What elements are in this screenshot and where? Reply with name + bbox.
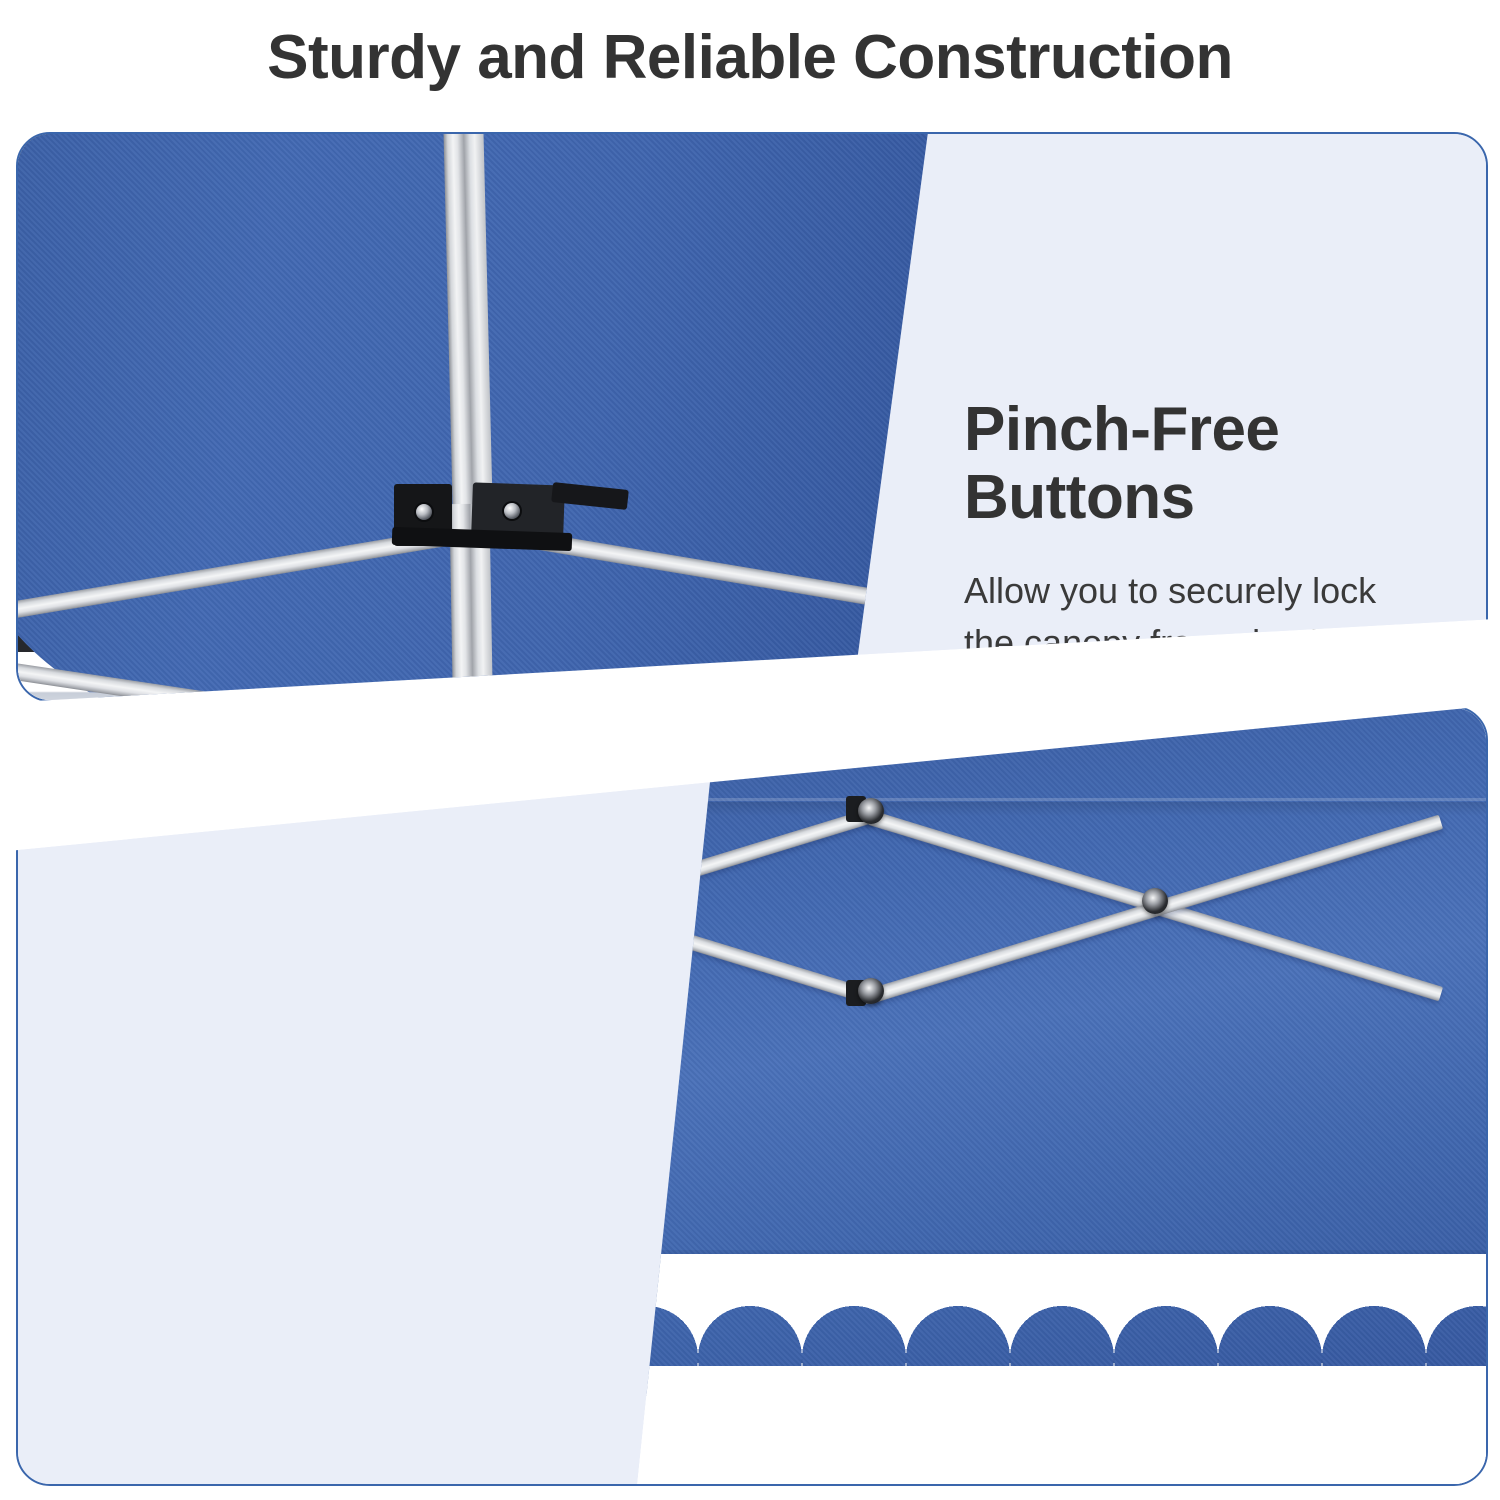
canopy-seam-shadow	[614, 802, 1488, 816]
card-inner: Pinch-Free Buttons Allow you to securely…	[18, 134, 1486, 700]
screw-icon	[504, 503, 520, 519]
valance-scallop-edge	[614, 1254, 1488, 1374]
bolt-icon	[858, 798, 884, 824]
photo-lower-white-area	[614, 1366, 1488, 1486]
bolt-icon	[1142, 888, 1168, 914]
page-title: Sturdy and Reliable Construction	[0, 24, 1500, 92]
canopy-seam	[614, 798, 1488, 801]
product-photo-truss	[614, 706, 1488, 1486]
screw-icon	[416, 504, 432, 520]
infographic-page: Sturdy and Reliable Construction	[0, 0, 1500, 1500]
feature-heading: Pinch-Free Buttons	[964, 396, 1434, 531]
truss-arm-lower-right	[485, 676, 883, 702]
feature-text-pinch-free: Pinch-Free Buttons Allow you to securely…	[964, 396, 1434, 670]
product-photo-pinch-free	[16, 132, 928, 702]
feature-card-pinch-free-buttons: Pinch-Free Buttons Allow you to securely…	[16, 132, 1488, 702]
card-inner: Heavy-duty Truss Connection Provide stro…	[18, 708, 1486, 1484]
feature-body: Allow you to securely lock the canopy fr…	[964, 565, 1434, 669]
bolt-icon	[858, 978, 884, 1004]
feature-card-heavy-duty-truss: Heavy-duty Truss Connection Provide stro…	[16, 706, 1488, 1486]
